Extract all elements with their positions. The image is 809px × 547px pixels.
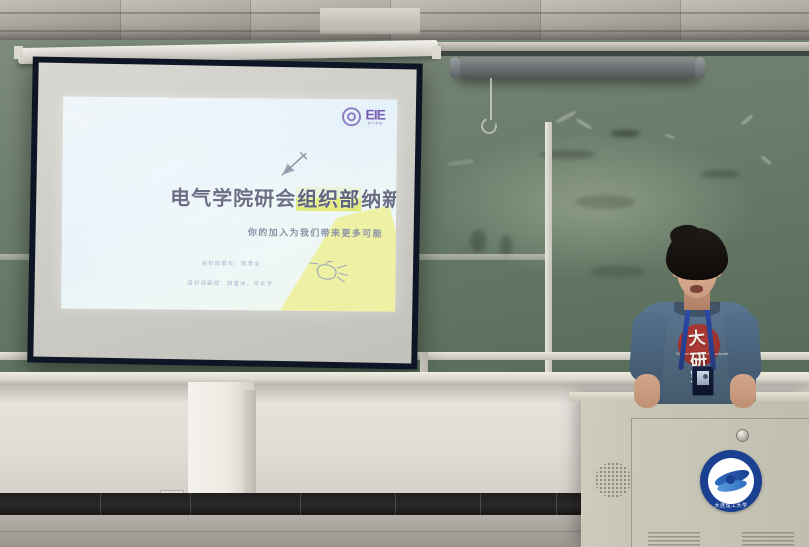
presenter-forearm-right <box>730 374 756 408</box>
podium-vent-left <box>648 532 700 546</box>
podium-vent-right <box>742 532 794 546</box>
presenter-sleeve-right <box>724 311 763 383</box>
pointing-hand-icon <box>307 255 351 285</box>
slide-credit-line-2: 组织部副部：胡雪冰、邓华宇 <box>187 279 273 288</box>
circular-emblem-icon <box>342 107 361 126</box>
badge-photo <box>697 371 709 385</box>
slide-credit-line-1: 组织部部长：陈贵全 <box>202 259 261 268</box>
mouth <box>690 285 703 293</box>
screen-pull-cord[interactable] <box>490 78 492 120</box>
logo-subtext: 电气学院 <box>365 121 385 126</box>
university-emblem: 大连理工大学 <box>700 450 762 512</box>
slide-subtitle: 你的加入为我们带来更多可能 <box>248 225 383 239</box>
title-highlight: 组织部 <box>296 187 361 212</box>
housing-end-left <box>14 46 23 59</box>
cabinet-lock-icon[interactable] <box>736 429 749 442</box>
presenter-sleeve-left <box>629 311 668 383</box>
title-part-1: 电气学院研会 <box>170 186 296 211</box>
slide-title: 电气学院研会组织部纳新 <box>170 182 397 213</box>
presenter: 大 研 究 Student Union of Graduate <box>630 228 760 404</box>
logo-wordmark: EIE <box>365 108 385 121</box>
projected-slide: JOIN US EIE 电气学院 电气学院研会组织部纳新 <box>61 96 397 311</box>
title-part-2: 纳新 <box>361 187 397 211</box>
housing-end-right <box>432 46 441 59</box>
roller-cap-left <box>450 57 460 79</box>
roller-cap-right <box>695 57 705 79</box>
slide-logo: EIE 电气学院 <box>342 107 385 126</box>
classroom-scene: JOIN US EIE 电气学院 电气学院研会组织部纳新 <box>0 0 809 547</box>
emblem-label: 大连理工大学 <box>700 502 762 509</box>
screen-surface: JOIN US EIE 电气学院 电气学院研会组织部纳新 <box>33 63 416 364</box>
projector-roller-tube[interactable] <box>455 57 700 79</box>
presenter-forearm-left <box>634 374 660 408</box>
screen-rail <box>400 42 809 51</box>
speaker-grille-icon <box>595 462 631 498</box>
id-badge <box>692 366 714 396</box>
arrow-down-left-icon <box>274 151 308 181</box>
projection-screen[interactable]: JOIN US EIE 电气学院 电气学院研会组织部纳新 <box>27 56 423 369</box>
screen-rail-shadow <box>400 51 809 56</box>
